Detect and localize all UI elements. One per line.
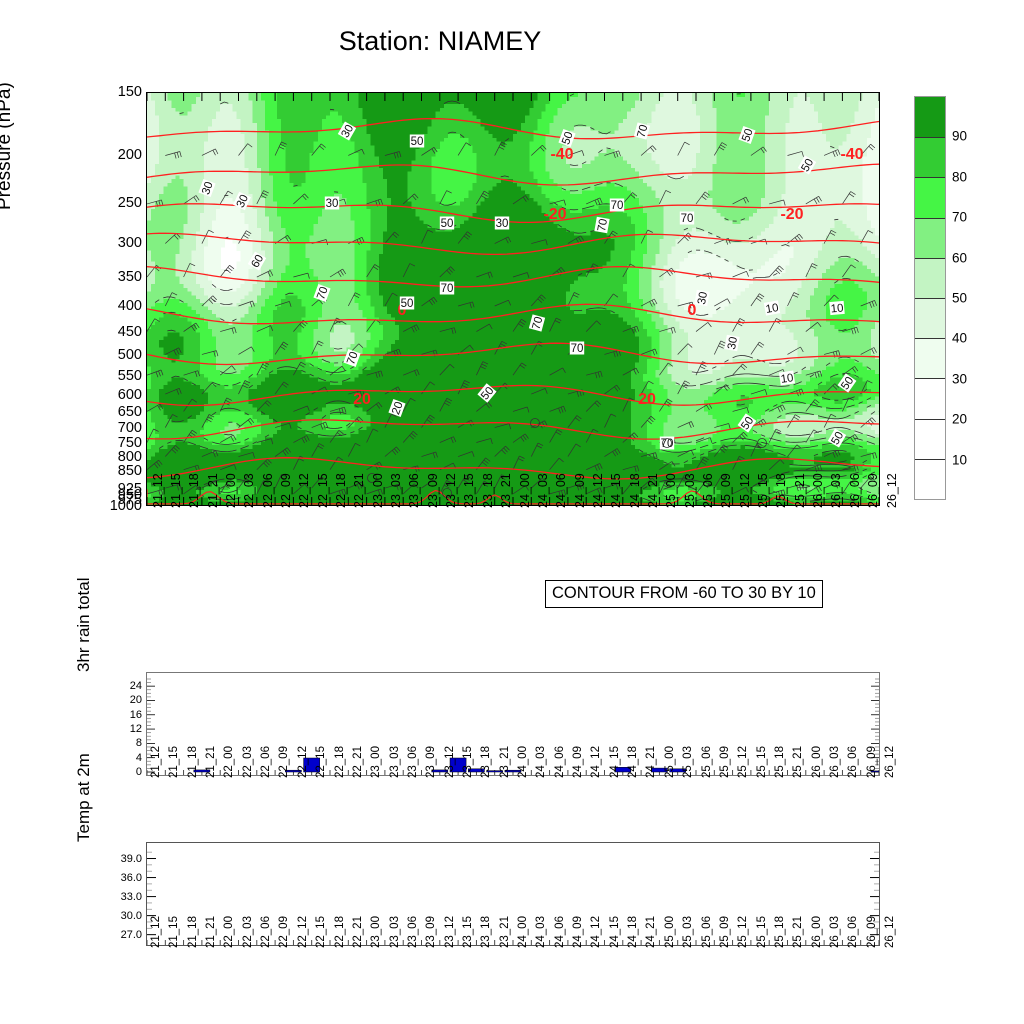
temp-tick-label: 36.0: [121, 872, 142, 884]
pressure-tick-label: 300: [118, 236, 142, 251]
xaxis-tick-label: 22_03: [243, 473, 256, 508]
colorbar-labels: 908070605040302010: [952, 96, 996, 500]
colorbar-band: [915, 258, 945, 298]
xaxis-tick-label: 23_15: [463, 473, 476, 508]
xaxis-tick-label: 22_15: [317, 473, 330, 508]
colorbar-band: [915, 137, 945, 177]
colorbar-band: [915, 419, 945, 459]
temp-axis-labels: 27.030.033.036.039.0: [96, 842, 142, 946]
xaxis-tick-label: 22_15: [316, 746, 328, 778]
xaxis-tick-label: 23_00: [371, 916, 383, 948]
xaxis-tick-label: 21_21: [206, 746, 218, 778]
xaxis-tick-label: 25_21: [794, 473, 807, 508]
pressure-tick-label: 700: [118, 421, 142, 436]
xaxis-tick-label: 25_21: [793, 746, 805, 778]
xaxis-tick-label: 25_00: [665, 473, 678, 508]
xaxis-tick-label: 22_12: [298, 916, 310, 948]
xaxis-tick-label: 21_12: [151, 916, 163, 948]
rain-tick-label: 16: [130, 709, 142, 721]
colorbar-tick-label: 10: [952, 452, 967, 467]
xaxis-tick-label: 24_06: [555, 746, 567, 778]
pressure-tick-label: 650: [118, 405, 142, 420]
xaxis-tick-label: 21_12: [151, 746, 163, 778]
xaxis-tick-label: 24_21: [646, 746, 658, 778]
xaxis-tick-label: 24_06: [555, 473, 568, 508]
xaxis-tick-label: 26_12: [885, 916, 897, 948]
xaxis-tick-label: 22_03: [243, 746, 255, 778]
temp-tick-label: 27.0: [121, 929, 142, 941]
xaxis-tick-label: 24_09: [573, 916, 585, 948]
xaxis-tick-label: 25_12: [738, 916, 750, 948]
xaxis-tick-label: 23_09: [426, 916, 438, 948]
xaxis-tick-label: 23_00: [371, 746, 383, 778]
colorbar-band: [915, 338, 945, 378]
colorbar-band: [915, 218, 945, 258]
temp-tick-label: 30.0: [121, 910, 142, 922]
temp-xaxis-labels: 21_1221_1521_1821_2122_0022_0322_0622_09…: [146, 948, 880, 1008]
xaxis-tick-label: 23_15: [463, 746, 475, 778]
xaxis-tick-label: 24_15: [610, 746, 622, 778]
rain-xaxis-labels: 21_1221_1521_1821_2122_0022_0322_0622_09…: [146, 778, 880, 838]
xaxis-tick-label: 25_09: [720, 916, 732, 948]
xaxis-tick-label: 23_18: [481, 746, 493, 778]
xaxis-tick-label: 26_00: [812, 473, 825, 508]
pressure-tick-label: 1000: [110, 499, 142, 514]
xaxis-tick-label: 26_09: [867, 916, 879, 948]
xaxis-tick-label: 23_00: [372, 473, 385, 508]
xaxis-tick-label: 26_00: [812, 746, 824, 778]
xaxis-tick-label: 22_12: [298, 473, 311, 508]
pressure-tick-label: 450: [118, 324, 142, 339]
xaxis-tick-label: 25_18: [775, 746, 787, 778]
rain-tick-label: 20: [130, 694, 142, 706]
xaxis-tick-label: 23_15: [463, 916, 475, 948]
xaxis-tick-label: 22_06: [262, 473, 275, 508]
xaxis-tick-label: 23_21: [500, 473, 513, 508]
xaxis-tick-label: 22_18: [335, 746, 347, 778]
xaxis-tick-label: 24_18: [628, 746, 640, 778]
xaxis-tick-label: 26_00: [812, 916, 824, 948]
xaxis-tick-label: 23_12: [445, 746, 457, 778]
xaxis-tick-label: 24_03: [536, 916, 548, 948]
xaxis-tick-label: 25_12: [738, 746, 750, 778]
pressure-tick-label: 850: [118, 463, 142, 478]
xaxis-tick-label: 25_00: [665, 916, 677, 948]
xaxis-tick-label: 26_12: [886, 473, 899, 508]
xaxis-tick-label: 25_06: [702, 746, 714, 778]
xaxis-tick-label: 26_06: [849, 473, 862, 508]
xaxis-tick-label: 25_15: [757, 916, 769, 948]
xaxis-tick-label: 24_18: [628, 916, 640, 948]
pressure-axis-title: Pressure (hPa): [0, 82, 16, 210]
main-xaxis-labels: 21_1221_1521_1821_2122_0022_0322_0622_09…: [146, 508, 880, 574]
xaxis-tick-label: 21_18: [188, 916, 200, 948]
xaxis-tick-label: 25_03: [684, 473, 697, 508]
rain-tick-label: 24: [130, 680, 142, 692]
temp-axis-title: Temp at 2m: [74, 753, 94, 842]
xaxis-tick-label: 23_18: [481, 916, 493, 948]
xaxis-tick-label: 22_21: [353, 916, 365, 948]
xaxis-tick-label: 22_00: [224, 746, 236, 778]
colorbar-band: [915, 97, 945, 137]
xaxis-tick-label: 24_00: [518, 746, 530, 778]
xaxis-tick-label: 23_21: [500, 746, 512, 778]
xaxis-tick-label: 23_06: [408, 473, 421, 508]
xaxis-tick-label: 21_12: [152, 473, 165, 508]
xaxis-tick-label: 25_18: [775, 916, 787, 948]
colorbar-tick-label: 30: [952, 371, 967, 386]
temperature-line-chart: [146, 842, 880, 946]
xaxis-tick-label: 26_03: [830, 916, 842, 948]
xaxis-tick-label: 25_03: [683, 746, 695, 778]
xaxis-tick-label: 26_06: [848, 746, 860, 778]
xaxis-tick-label: 24_15: [610, 473, 623, 508]
xaxis-tick-label: 24_21: [646, 916, 658, 948]
xaxis-tick-label: 22_21: [353, 746, 365, 778]
xaxis-tick-label: 22_18: [335, 916, 347, 948]
rain-bar-chart: [146, 672, 880, 776]
xaxis-tick-label: 24_12: [591, 916, 603, 948]
xaxis-tick-label: 23_09: [426, 746, 438, 778]
pressure-tick-label: 550: [118, 368, 142, 383]
colorbar-tick-label: 80: [952, 169, 967, 184]
pressure-axis-labels: 1502002503003504004505005506006507007508…: [96, 92, 142, 506]
colorbar-tick-label: 50: [952, 291, 967, 306]
xaxis-tick-label: 24_06: [555, 916, 567, 948]
pressure-tick-label: 350: [118, 270, 142, 285]
xaxis-tick-label: 25_06: [702, 916, 714, 948]
temp-tick-label: 39.0: [121, 853, 142, 865]
rain-axis-labels: 04812162024: [104, 672, 142, 776]
xaxis-tick-label: 24_18: [629, 473, 642, 508]
pressure-tick-label: 150: [118, 85, 142, 100]
xaxis-tick-label: 23_12: [445, 916, 457, 948]
xaxis-tick-label: 22_18: [335, 473, 348, 508]
xaxis-tick-label: 25_15: [757, 746, 769, 778]
xaxis-tick-label: 21_15: [169, 746, 181, 778]
xaxis-tick-label: 25_15: [757, 473, 770, 508]
xaxis-tick-label: 24_15: [610, 916, 622, 948]
page-title: Station: NIAMEY: [0, 26, 880, 57]
pressure-tick-label: 500: [118, 347, 142, 362]
xaxis-tick-label: 25_18: [775, 473, 788, 508]
xaxis-tick-label: 22_21: [353, 473, 366, 508]
xaxis-tick-label: 25_09: [720, 473, 733, 508]
xaxis-tick-label: 21_15: [169, 916, 181, 948]
xaxis-tick-label: 23_12: [445, 473, 458, 508]
xaxis-tick-label: 26_09: [867, 473, 880, 508]
temp-tick-label: 33.0: [121, 891, 142, 903]
xaxis-tick-label: 24_12: [591, 746, 603, 778]
colorbar-band: [915, 378, 945, 418]
xaxis-tick-label: 22_06: [261, 916, 273, 948]
xaxis-tick-label: 22_03: [243, 916, 255, 948]
xaxis-tick-label: 25_21: [793, 916, 805, 948]
colorbar-tick-label: 90: [952, 129, 967, 144]
colorbar-tick-label: 70: [952, 210, 967, 225]
xaxis-tick-label: 25_03: [683, 916, 695, 948]
xaxis-tick-label: 23_21: [500, 916, 512, 948]
xaxis-tick-label: 21_18: [188, 473, 201, 508]
xaxis-tick-label: 24_09: [573, 746, 585, 778]
rain-axis-title: 3hr rain total: [74, 578, 94, 673]
rain-tick-label: 4: [136, 752, 142, 764]
rain-tick-label: 8: [136, 737, 142, 749]
xaxis-tick-label: 24_21: [647, 473, 660, 508]
xaxis-tick-label: 24_03: [536, 746, 548, 778]
pressure-tick-label: 250: [118, 196, 142, 211]
xaxis-tick-label: 23_03: [390, 473, 403, 508]
xaxis-tick-label: 24_09: [574, 473, 587, 508]
xaxis-tick-label: 22_09: [279, 746, 291, 778]
xaxis-tick-label: 22_06: [261, 746, 273, 778]
xaxis-tick-label: 25_12: [739, 473, 752, 508]
xaxis-tick-label: 23_03: [390, 746, 402, 778]
xaxis-tick-label: 21_18: [188, 746, 200, 778]
xaxis-tick-label: 21_21: [206, 916, 218, 948]
rain-tick-label: 0: [136, 766, 142, 778]
pressure-tick-label: 400: [118, 299, 142, 314]
colorbar-tick-label: 20: [952, 412, 967, 427]
xaxis-tick-label: 25_00: [665, 746, 677, 778]
contour-note: CONTOUR FROM -60 TO 30 BY 10: [545, 580, 823, 608]
xaxis-tick-label: 21_21: [207, 473, 220, 508]
xaxis-tick-label: 24_00: [519, 473, 532, 508]
xaxis-tick-label: 22_00: [225, 473, 238, 508]
colorbar-tick-label: 40: [952, 331, 967, 346]
rain-tick-label: 12: [130, 723, 142, 735]
xaxis-tick-label: 26_03: [830, 746, 842, 778]
xaxis-tick-label: 24_00: [518, 916, 530, 948]
colorbar-band: [915, 459, 945, 499]
xaxis-tick-label: 24_03: [537, 473, 550, 508]
xaxis-tick-label: 23_03: [390, 916, 402, 948]
xaxis-tick-label: 24_12: [592, 473, 605, 508]
xaxis-tick-label: 23_09: [427, 473, 440, 508]
xaxis-tick-label: 26_12: [885, 746, 897, 778]
colorbar-band: [915, 177, 945, 217]
xaxis-tick-label: 22_09: [280, 473, 293, 508]
xaxis-tick-label: 23_06: [408, 916, 420, 948]
xaxis-tick-label: 22_12: [298, 746, 310, 778]
xaxis-tick-label: 26_09: [867, 746, 879, 778]
colorbar: [914, 96, 946, 500]
xaxis-tick-label: 26_06: [848, 916, 860, 948]
colorbar-band: [915, 298, 945, 338]
xaxis-tick-label: 25_06: [702, 473, 715, 508]
humidity-contour-plot: -40-40-20-200020203050303050705050503070…: [146, 92, 880, 506]
xaxis-tick-label: 22_00: [224, 916, 236, 948]
xaxis-tick-label: 21_15: [170, 473, 183, 508]
pressure-tick-label: 600: [118, 387, 142, 402]
xaxis-tick-label: 22_09: [279, 916, 291, 948]
xaxis-tick-label: 23_06: [408, 746, 420, 778]
xaxis-tick-label: 22_15: [316, 916, 328, 948]
colorbar-tick-label: 60: [952, 250, 967, 265]
xaxis-tick-label: 26_03: [830, 473, 843, 508]
xaxis-tick-label: 23_18: [482, 473, 495, 508]
xaxis-tick-label: 25_09: [720, 746, 732, 778]
pressure-tick-label: 200: [118, 148, 142, 163]
